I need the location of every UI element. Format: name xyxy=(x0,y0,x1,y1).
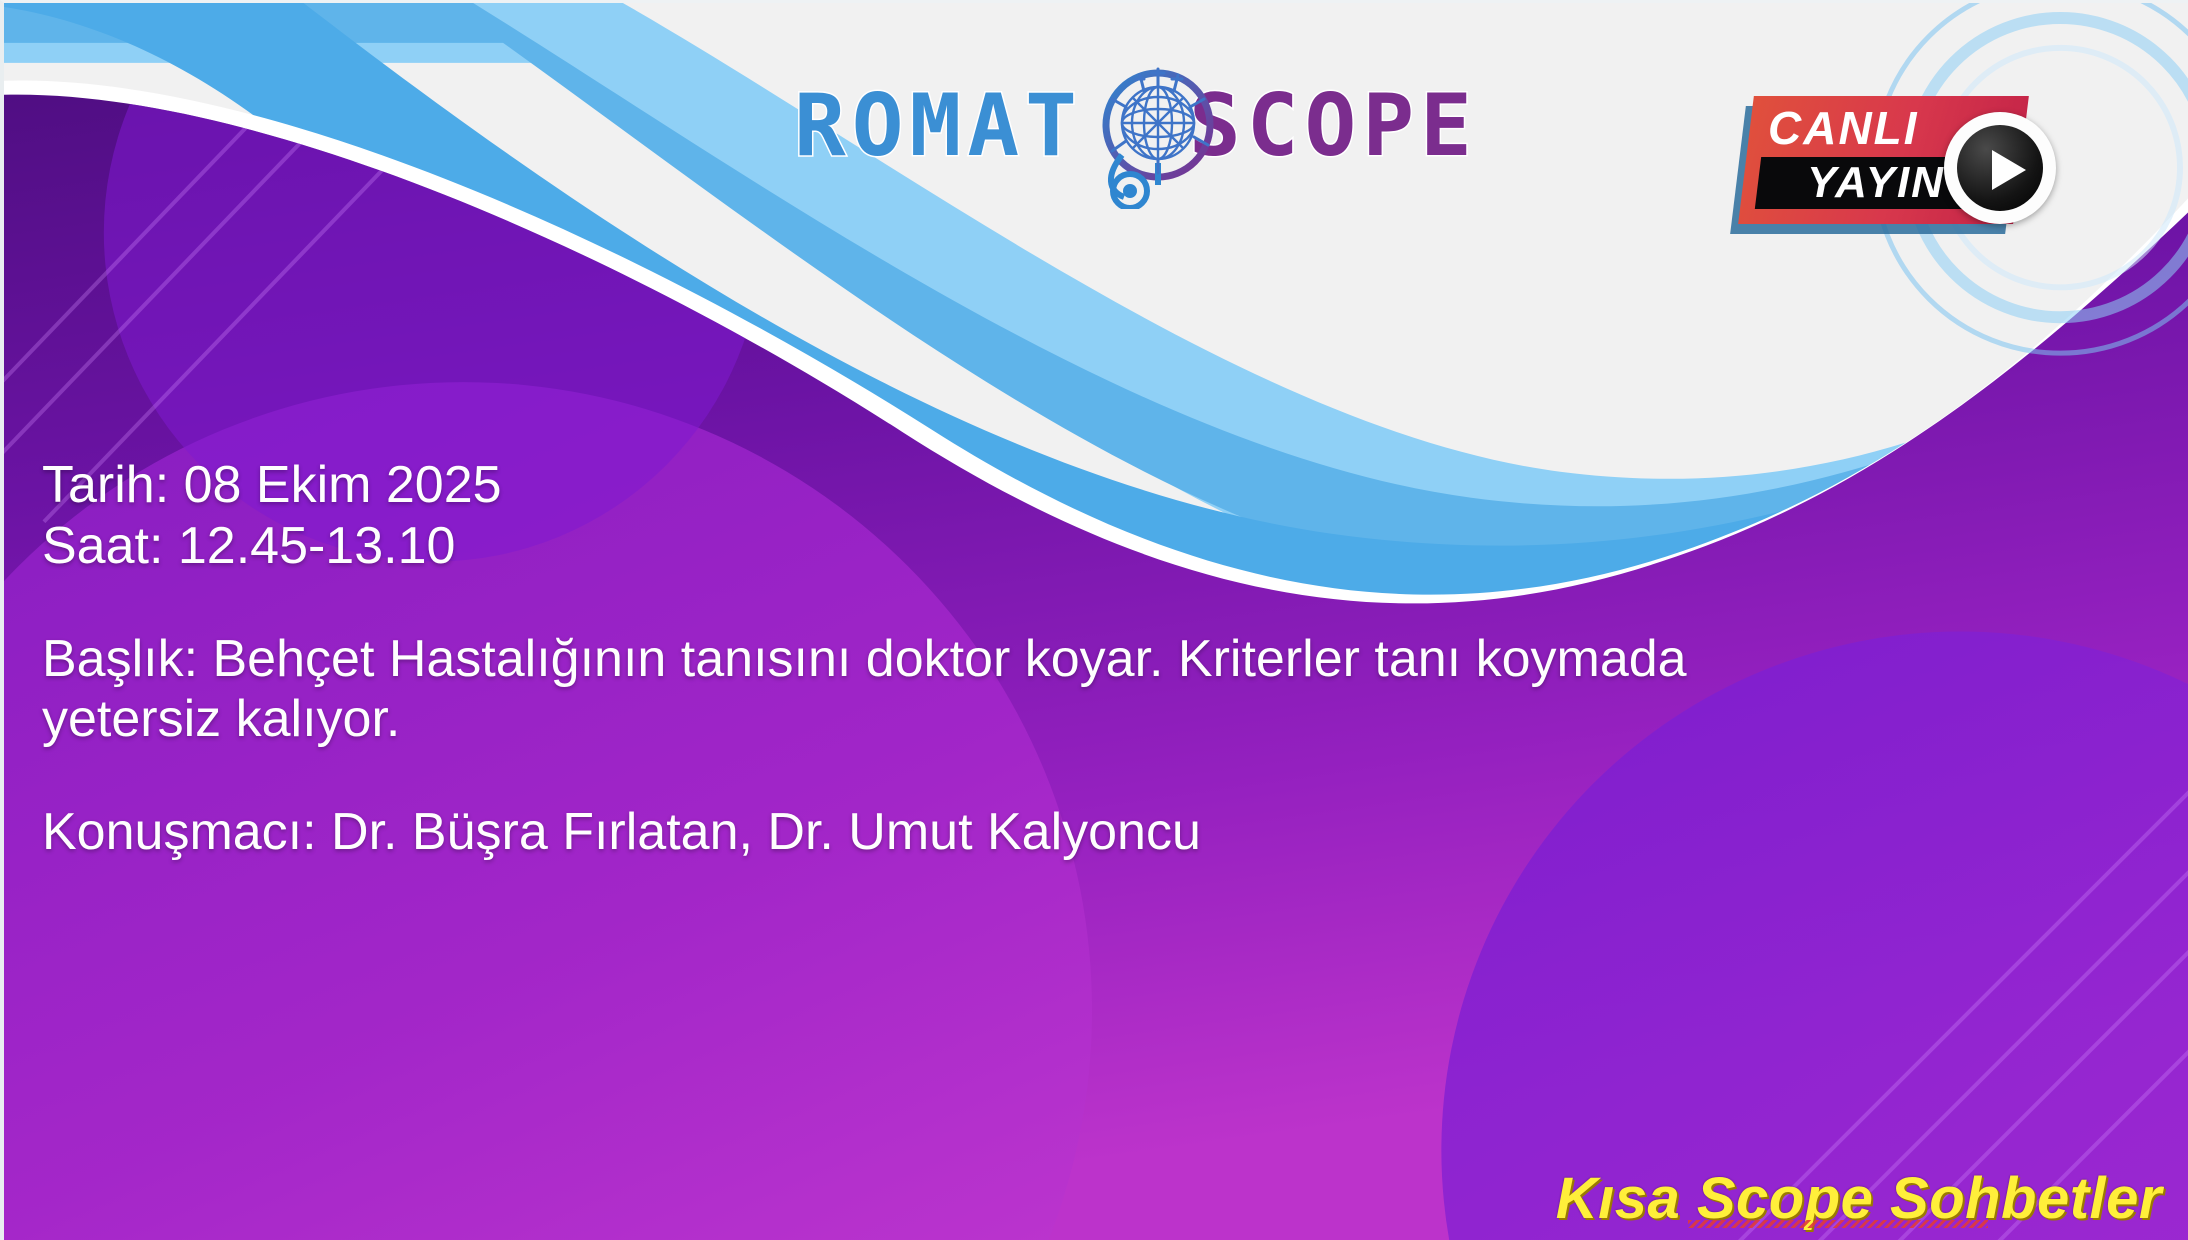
series-label: Kısa Scope Sohbetler xyxy=(1556,1165,2162,1232)
time-line: Saat: 12.45-13.10 xyxy=(42,516,1832,577)
date-line: Tarih: 08 Ekim 2025 xyxy=(42,455,1832,516)
slide-canvas: ROMAT SCOPE xyxy=(0,0,2188,1240)
badge-yayin-text: YAYIN xyxy=(1807,158,1945,208)
live-broadcast-badge[interactable]: CANLI YAYIN xyxy=(1746,96,2086,231)
play-icon[interactable] xyxy=(1944,112,2056,224)
play-triangle xyxy=(1992,150,2026,190)
logo-text-scope: SCOPE xyxy=(1189,83,1478,169)
title-line: Başlık: Behçet Hastalığının tanısını dok… xyxy=(42,629,1832,751)
spacer-1 xyxy=(42,577,1832,629)
spacer-2 xyxy=(42,750,1832,802)
speaker-line: Konuşmacı: Dr. Büşra Fırlatan, Dr. Umut … xyxy=(42,802,1832,863)
session-details: Tarih: 08 Ekim 2025 Saat: 12.45-13.10 Ba… xyxy=(42,455,1832,863)
badge-canli-text: CANLI xyxy=(1768,101,1919,155)
romatoscope-logo: ROMAT SCOPE xyxy=(794,61,1654,211)
logo-text-romat: ROMAT xyxy=(794,83,1083,169)
spellcheck-underline xyxy=(1688,1220,1988,1228)
stethoscope-virus-icon xyxy=(1082,59,1232,209)
